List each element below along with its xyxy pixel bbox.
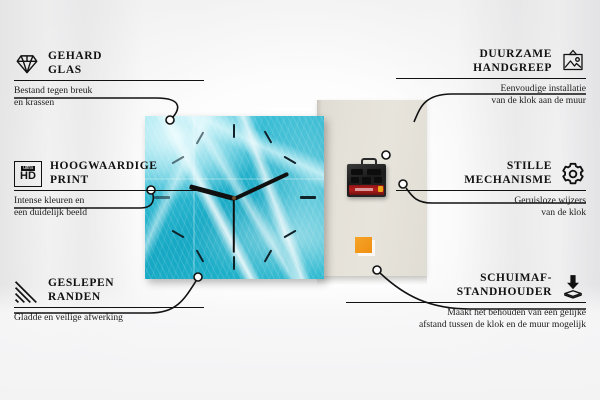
callout-desc-line2: van de klok	[396, 207, 586, 219]
mechanism-slot-e	[374, 177, 382, 183]
clock-mechanism	[347, 164, 386, 197]
callout-desc-line1: Intense kleuren en	[14, 195, 204, 207]
callout-title: HOOGWAARDIGE PRINT	[50, 160, 158, 187]
callout-desc-line1: Geruisloze wijzers	[396, 195, 586, 207]
callout-schuimaf-standhouder: SCHUIMAF- STANDHOUDER Maakt het behouden…	[346, 272, 586, 330]
callout-header: STILLE MECHANISME	[396, 160, 586, 187]
mechanism-slot-b	[367, 169, 381, 175]
press-down-pad-icon	[560, 273, 586, 299]
callout-title: GEHARD GLAS	[48, 50, 102, 77]
callout-title-line2: GLAS	[48, 64, 102, 78]
clock-tick-12	[233, 124, 235, 138]
callout-title-line1: DUURZAME	[473, 48, 552, 62]
callout-title-line1: GESLEPEN	[48, 277, 114, 291]
battery-label-stripe	[355, 188, 373, 191]
callout-desc-line2: afstand tussen de klok en de muur mogeli…	[346, 319, 586, 331]
callout-gehard-glas: GEHARD GLAS Bestand tegen breuk en krass…	[14, 50, 204, 108]
callout-header: DUURZAME HANDGREEP	[396, 48, 586, 75]
gear-icon	[560, 161, 586, 187]
clock-center-pin	[232, 196, 236, 200]
bevelled-edges-icon	[14, 278, 40, 304]
callout-divider	[14, 190, 204, 191]
ultra-hd-icon-main-text: HD	[20, 171, 36, 182]
picture-frame-icon	[560, 49, 586, 75]
callout-title-line1: SCHUIMAF-	[457, 272, 552, 286]
callout-title: STILLE MECHANISME	[464, 160, 552, 187]
clock-second-hand	[233, 198, 235, 252]
infographic-canvas: GEHARD GLAS Bestand tegen breuk en krass…	[0, 0, 600, 400]
callout-duurzame-handgreep: DUURZAME HANDGREEP Eenvoudige installati…	[396, 48, 586, 106]
callout-title-line2: HANDGREEP	[473, 62, 552, 76]
callout-hoogwaardige-print: ultra HD HOOGWAARDIGE PRINT Intense kleu…	[14, 160, 204, 218]
callout-divider	[396, 78, 586, 79]
callout-header: GEHARD GLAS	[14, 50, 204, 77]
callout-desc-line1: Gladde en veilige afwerking	[14, 312, 204, 324]
callout-desc-line1: Maakt het behouden van een gelijke	[346, 307, 586, 319]
callout-title-line2: PRINT	[50, 174, 158, 188]
callout-desc-line2: een duidelijk beeld	[14, 207, 204, 219]
callout-geslepen-randen: GESLEPEN RANDEN Gladde en veilige afwerk…	[14, 277, 204, 324]
clock-tick-6	[233, 256, 235, 270]
callout-title-line2: MECHANISME	[464, 174, 552, 188]
ultra-hd-icon: ultra HD	[14, 161, 42, 187]
callout-divider	[396, 190, 586, 191]
clock-tick-3	[300, 196, 316, 199]
callout-title: DUURZAME HANDGREEP	[473, 48, 552, 75]
mechanism-slot-d	[362, 177, 371, 184]
callout-desc-line2: van de klok aan de muur	[396, 95, 586, 107]
callout-desc-line2: en krassen	[14, 97, 204, 109]
callout-title-line1: STILLE	[464, 160, 552, 174]
battery	[349, 185, 384, 195]
foam-spacer-pad	[355, 237, 372, 253]
callout-header: SCHUIMAF- STANDHOUDER	[346, 272, 586, 299]
diamond-icon	[14, 51, 40, 77]
callout-divider	[14, 307, 204, 308]
callout-divider	[346, 302, 586, 303]
callout-title-line1: HOOGWAARDIGE	[50, 160, 158, 174]
callout-header: ultra HD HOOGWAARDIGE PRINT	[14, 160, 204, 187]
callout-divider	[14, 80, 204, 81]
callout-desc-line1: Eenvoudige installatie	[396, 83, 586, 95]
mechanism-slot-a	[351, 169, 363, 175]
battery-positive-tip	[378, 186, 383, 192]
callout-title-line1: GEHARD	[48, 50, 102, 64]
callout-title-line2: RANDEN	[48, 291, 114, 305]
callout-title-line2: STANDHOUDER	[457, 286, 552, 300]
callout-stille-mechanisme: STILLE MECHANISME Geruisloze wijzers van…	[396, 160, 586, 218]
mechanism-slot-c	[351, 177, 359, 183]
callout-title: GESLEPEN RANDEN	[48, 277, 114, 304]
callout-desc-line1: Bestand tegen breuk	[14, 85, 204, 97]
callout-title: SCHUIMAF- STANDHOUDER	[457, 272, 552, 299]
callout-header: GESLEPEN RANDEN	[14, 277, 204, 304]
